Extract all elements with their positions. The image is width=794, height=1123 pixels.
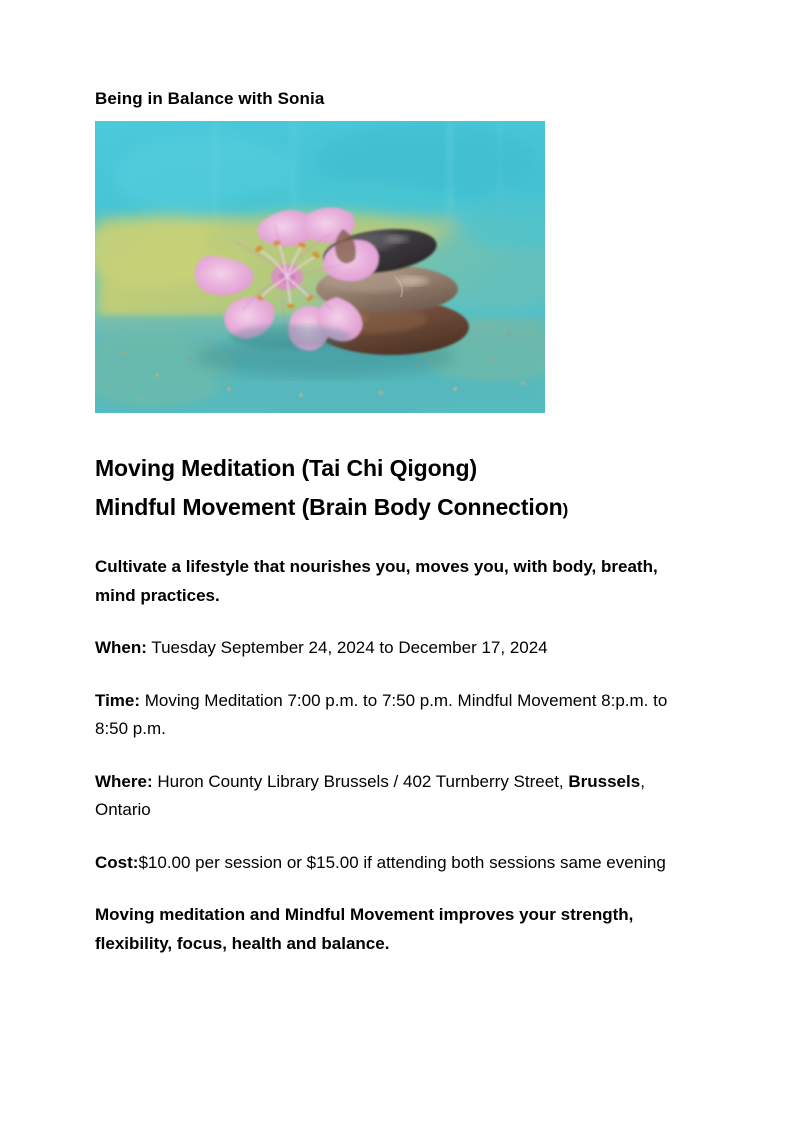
heading-line-1: Moving Meditation (Tai Chi Qigong) xyxy=(95,449,695,488)
cost-line: Cost:$10.00 per session or $15.00 if att… xyxy=(95,849,695,878)
where-value-city: Brussels xyxy=(568,772,640,791)
flyer-page: Being in Balance with Sonia xyxy=(0,0,794,1123)
time-value: Moving Meditation 7:00 p.m. to 7:50 p.m.… xyxy=(95,691,667,739)
page-title: Being in Balance with Sonia xyxy=(95,88,695,110)
cost-value: $10.00 per session or $15.00 if attendin… xyxy=(138,853,665,872)
where-label: Where: xyxy=(95,772,153,791)
tagline-paragraph: Cultivate a lifestyle that nourishes you… xyxy=(95,553,695,610)
time-line: Time: Moving Meditation 7:00 p.m. to 7:5… xyxy=(95,687,695,744)
heading-line-2-paren: ) xyxy=(563,500,569,519)
where-line: Where: Huron County Library Brussels / 4… xyxy=(95,768,695,825)
where-value-part1: Huron County Library Brussels / 402 Turn… xyxy=(153,772,569,791)
zen-flower-stones-photo xyxy=(95,121,545,413)
when-line: When: Tuesday September 24, 2024 to Dece… xyxy=(95,634,695,663)
heading-line-2: Mindful Movement (Brain Body Connection) xyxy=(95,488,695,529)
when-label: When: xyxy=(95,638,147,657)
when-value: Tuesday September 24, 2024 to December 1… xyxy=(147,638,548,657)
time-label: Time: xyxy=(95,691,140,710)
photo-illustration xyxy=(95,121,545,413)
cost-label: Cost: xyxy=(95,853,138,872)
event-headings: Moving Meditation (Tai Chi Qigong) Mindf… xyxy=(95,449,695,529)
flyer-content: Being in Balance with Sonia xyxy=(95,88,695,958)
heading-line-2-main: Mindful Movement (Brain Body Connection xyxy=(95,494,563,520)
closing-paragraph: Moving meditation and Mindful Movement i… xyxy=(95,901,695,958)
